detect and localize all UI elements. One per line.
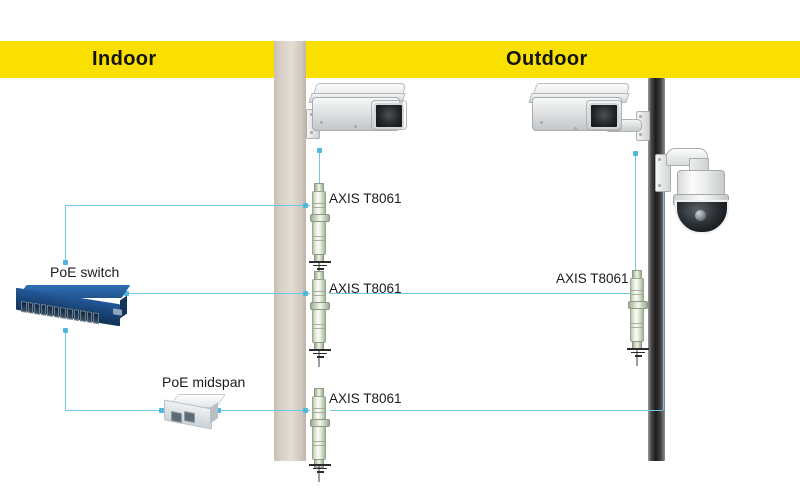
wire-node [303,408,308,413]
ground-symbol [309,462,331,473]
axis-t8061-pole[interactable] [628,278,646,342]
ground-symbol [309,259,331,270]
fixed-box-camera-pole[interactable] [528,83,648,155]
axis-t8061-pole-label: AXIS T8061 [556,271,629,287]
t8061-cable-collar [310,419,330,427]
axis-t8061-bottom-label: AXIS T8061 [329,391,402,407]
axis-t8061-top-label: AXIS T8061 [329,191,402,207]
ptz-lens [695,210,706,221]
t8061-body [312,396,326,460]
wire-midspan-to-bottom [218,410,310,411]
zone-label-indoor: Indoor [92,45,157,73]
fixed-box-camera-wall[interactable] [306,83,410,153]
axis-t8061-top[interactable] [310,191,328,255]
t8061-cable-collar [628,301,648,309]
poe-switch[interactable] [16,285,131,325]
wire-node [63,328,68,333]
zone-label-outdoor: Outdoor [506,45,588,73]
midspan-data-out-port [184,411,195,423]
t8061-cable-collar [310,302,330,310]
t8061-body [312,279,326,343]
ground-symbol [309,347,331,358]
switch-status-led [113,308,122,315]
wire-switch-to-middle [126,293,310,294]
ground-symbol [627,346,649,357]
poe-switch-label: PoE switch [50,264,119,280]
wire-switch-to-top-horizontal [65,205,310,206]
midspan-side-panel [210,402,218,424]
t8061-body [312,191,326,255]
midspan-data-in-port [171,411,182,423]
t8061-body [630,278,644,342]
wire-switch-to-midspan-horizontal [65,410,165,411]
indoor-outdoor-wall [274,41,306,461]
wire-switch-to-top-vertical [65,205,66,263]
ptz-dome-camera[interactable] [655,148,731,234]
axis-t8061-bottom[interactable] [310,396,328,460]
wire-pole-t8061-to-camera [635,153,636,278]
poe-midspan-label: PoE midspan [162,374,245,390]
wire-node [303,291,308,296]
wire-bottom-to-ptz-horizontal [330,410,663,411]
wire-switch-to-midspan-vertical [65,330,66,410]
poe-midspan[interactable] [164,394,222,428]
axis-t8061-middle-label: AXIS T8061 [329,281,402,297]
t8061-cable-collar [310,214,330,222]
axis-t8061-middle[interactable] [310,279,328,343]
camera-lens [374,103,404,129]
diagram-canvas: Indoor Outdoor PoE switch [0,0,800,503]
camera-lens [589,103,619,129]
wire-node [303,203,308,208]
